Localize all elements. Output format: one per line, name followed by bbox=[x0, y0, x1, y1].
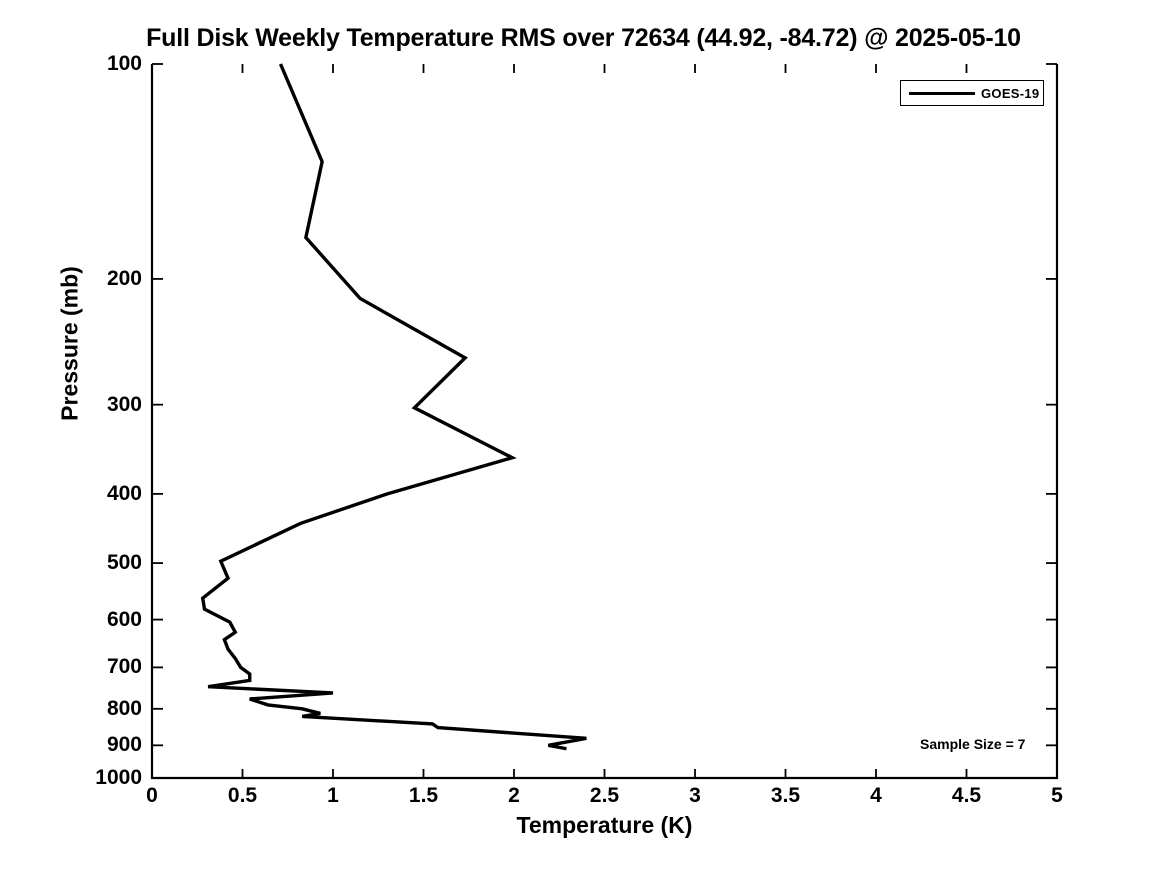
x-tick-label: 2 bbox=[508, 784, 520, 808]
y-tick-label: 800 bbox=[107, 697, 142, 721]
x-tick-label: 1 bbox=[327, 784, 339, 808]
legend-label-goes19: GOES-19 bbox=[981, 86, 1039, 101]
series-line-goes-19 bbox=[203, 64, 587, 749]
y-tick-label: 400 bbox=[107, 482, 142, 506]
y-tick-label: 100 bbox=[107, 52, 142, 76]
x-tick-label: 1.5 bbox=[409, 784, 438, 808]
y-tick-label: 500 bbox=[107, 551, 142, 575]
x-tick-label: 0 bbox=[146, 784, 158, 808]
x-tick-label: 3.5 bbox=[771, 784, 800, 808]
x-tick-label: 2.5 bbox=[590, 784, 619, 808]
legend: GOES-19 bbox=[900, 80, 1044, 106]
y-tick-label: 200 bbox=[107, 267, 142, 291]
x-tick-label: 0.5 bbox=[228, 784, 257, 808]
tick-marks bbox=[152, 64, 1057, 778]
y-tick-label: 700 bbox=[107, 655, 142, 679]
x-tick-label: 4 bbox=[870, 784, 882, 808]
y-tick-label: 600 bbox=[107, 608, 142, 632]
x-tick-label: 3 bbox=[689, 784, 701, 808]
legend-line-swatch bbox=[909, 92, 975, 95]
y-tick-label: 1000 bbox=[95, 766, 142, 790]
axes-frame bbox=[152, 64, 1057, 778]
x-tick-label: 5 bbox=[1051, 784, 1063, 808]
figure: Full Disk Weekly Temperature RMS over 72… bbox=[0, 0, 1167, 875]
sample-size-annotation: Sample Size = 7 bbox=[920, 736, 1025, 752]
data-series bbox=[203, 64, 587, 749]
y-tick-label: 300 bbox=[107, 393, 142, 417]
y-tick-label: 900 bbox=[107, 733, 142, 757]
x-tick-label: 4.5 bbox=[952, 784, 981, 808]
